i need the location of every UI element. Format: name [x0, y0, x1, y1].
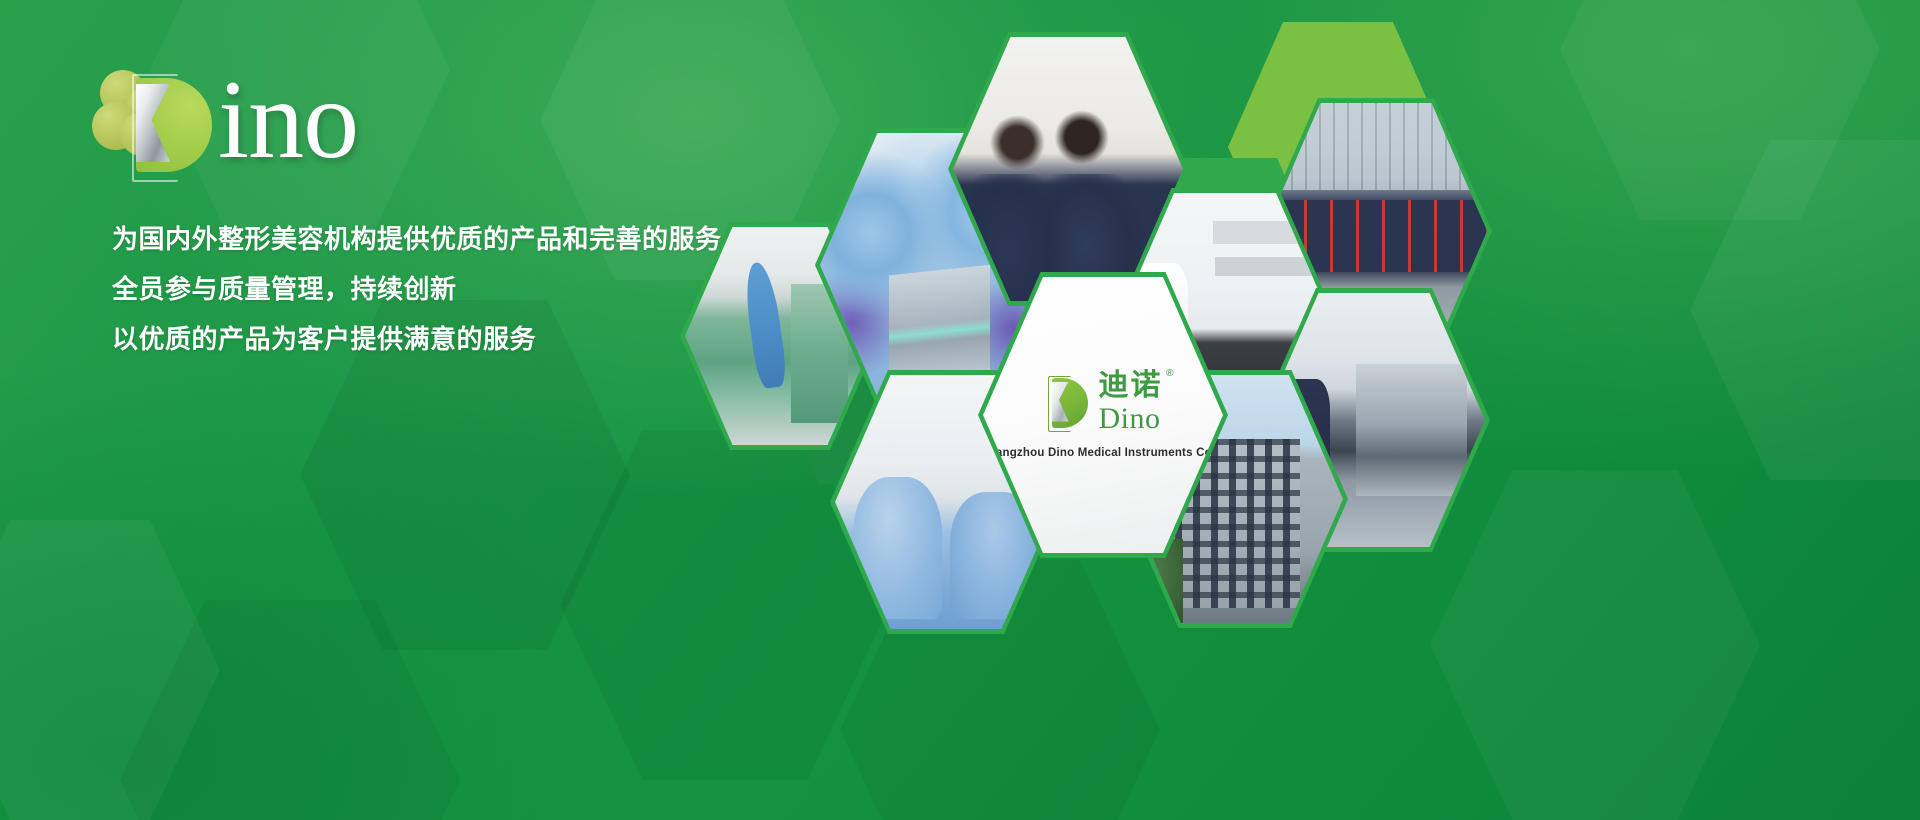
logo-company-line: Hangzhou Dino Medical Instruments Co.. [987, 447, 1218, 459]
background-hexagon-watermark [120, 600, 460, 820]
dino-leaf-mark-icon [1044, 376, 1090, 430]
brand-logo: ino [88, 60, 428, 180]
brand-wordmark: ino [218, 64, 358, 176]
dino-leaf-logo-icon [126, 74, 218, 174]
registered-trademark-icon: ® [1166, 369, 1173, 379]
banner-stage: ino 为国内外整形美容机构提供优质的产品和完善的服务 全员参与质量管理，持续创… [0, 0, 1920, 820]
logo-chinese-name: 迪诺 [1099, 371, 1163, 401]
company-logo-lockup: 迪诺 ® Dino Hangzhou Dino Medical Instrume… [983, 371, 1223, 459]
logo-english-name: Dino [1099, 404, 1163, 434]
hexagon-photo-cluster: 迪诺 ® Dino Hangzhou Dino Medical Instrume… [660, 0, 1920, 820]
